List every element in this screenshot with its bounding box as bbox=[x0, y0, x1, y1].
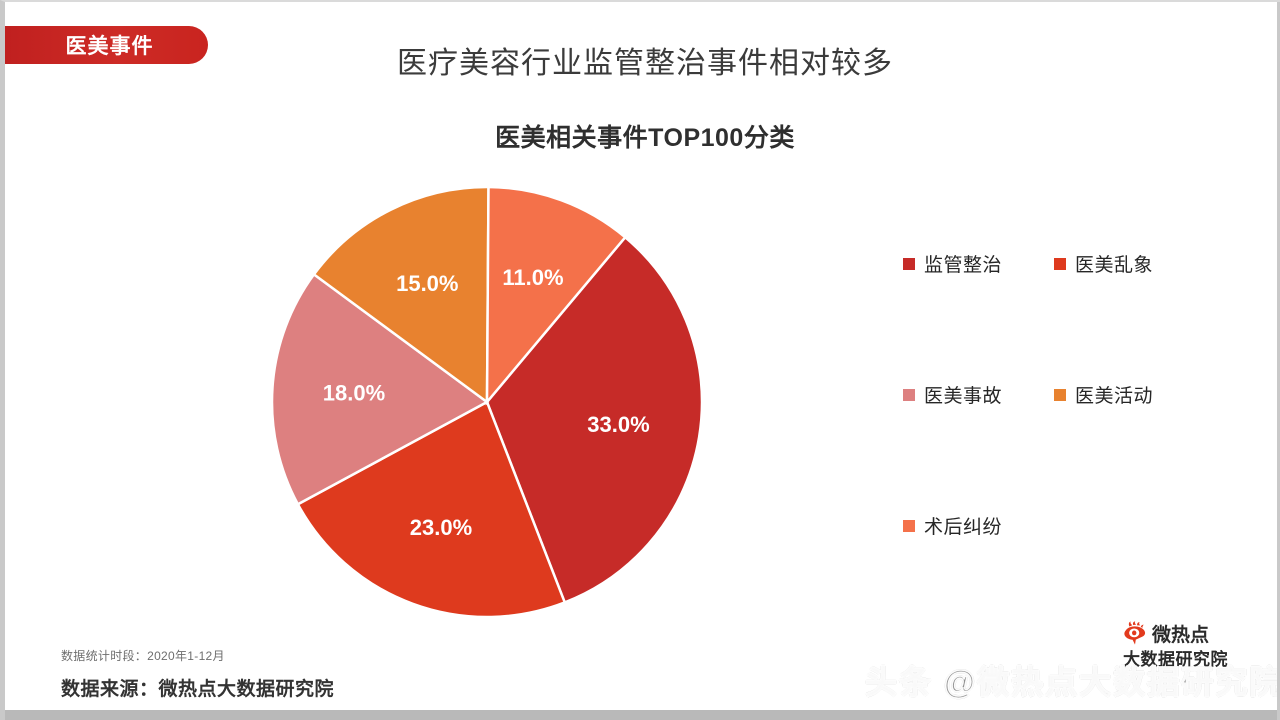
pie-slice-value-label: 18.0% bbox=[323, 381, 385, 406]
legend-item-4[interactable]: 术后纠纷 bbox=[903, 512, 1002, 539]
legend-label: 医美活动 bbox=[1075, 381, 1153, 408]
data-period-note: 数据统计时段：2020年1-12月 bbox=[61, 647, 225, 664]
flame-eye-icon bbox=[1123, 621, 1149, 645]
pie-slice-value-label: 23.0% bbox=[410, 515, 472, 540]
legend-item-0[interactable]: 监管整治 bbox=[903, 250, 1002, 277]
page-title: 医疗美容行业监管整治事件相对较多 bbox=[5, 38, 1280, 82]
legend-item-1[interactable]: 医美乱象 bbox=[1054, 250, 1153, 277]
data-source-note: 数据来源：微热点大数据研究院 bbox=[61, 674, 334, 701]
watermark-text: 头条 @微热点大数据研究院 bbox=[865, 657, 1280, 703]
legend-swatch-icon bbox=[1054, 389, 1066, 401]
brand-logo-name: 微热点 bbox=[1152, 620, 1209, 647]
legend-item-3[interactable]: 医美活动 bbox=[1054, 381, 1153, 408]
legend-item-2[interactable]: 医美事故 bbox=[903, 381, 1002, 408]
legend-label: 医美乱象 bbox=[1075, 250, 1153, 277]
pie-slice-value-label: 11.0% bbox=[502, 265, 563, 290]
legend-label: 监管整治 bbox=[924, 250, 1002, 277]
chart-legend: 监管整治 医美乱象 医美事故 医美活动 术后纠纷 bbox=[903, 250, 1203, 560]
pie-chart-svg: 33.0%23.0%18.0%15.0%11.0% bbox=[271, 186, 703, 618]
chart-title: 医美相关事件TOP100分类 bbox=[5, 118, 1280, 154]
legend-swatch-icon bbox=[1054, 258, 1066, 270]
pie-slice-value-label: 15.0% bbox=[396, 271, 458, 296]
pie-chart: 33.0%23.0%18.0%15.0%11.0% bbox=[271, 186, 703, 618]
legend-label: 术后纠纷 bbox=[924, 512, 1002, 539]
brand-logo-row: 微热点 bbox=[1123, 620, 1273, 646]
legend-label: 医美事故 bbox=[924, 381, 1002, 408]
bottom-edge-band bbox=[5, 710, 1280, 720]
pie-slice-value-label: 33.0% bbox=[587, 412, 649, 437]
legend-swatch-icon bbox=[903, 258, 915, 270]
legend-swatch-icon bbox=[903, 389, 915, 401]
legend-swatch-icon bbox=[903, 520, 915, 532]
slide-canvas: 医美事件 医疗美容行业监管整治事件相对较多 医美相关事件TOP100分类 33.… bbox=[0, 0, 1280, 720]
